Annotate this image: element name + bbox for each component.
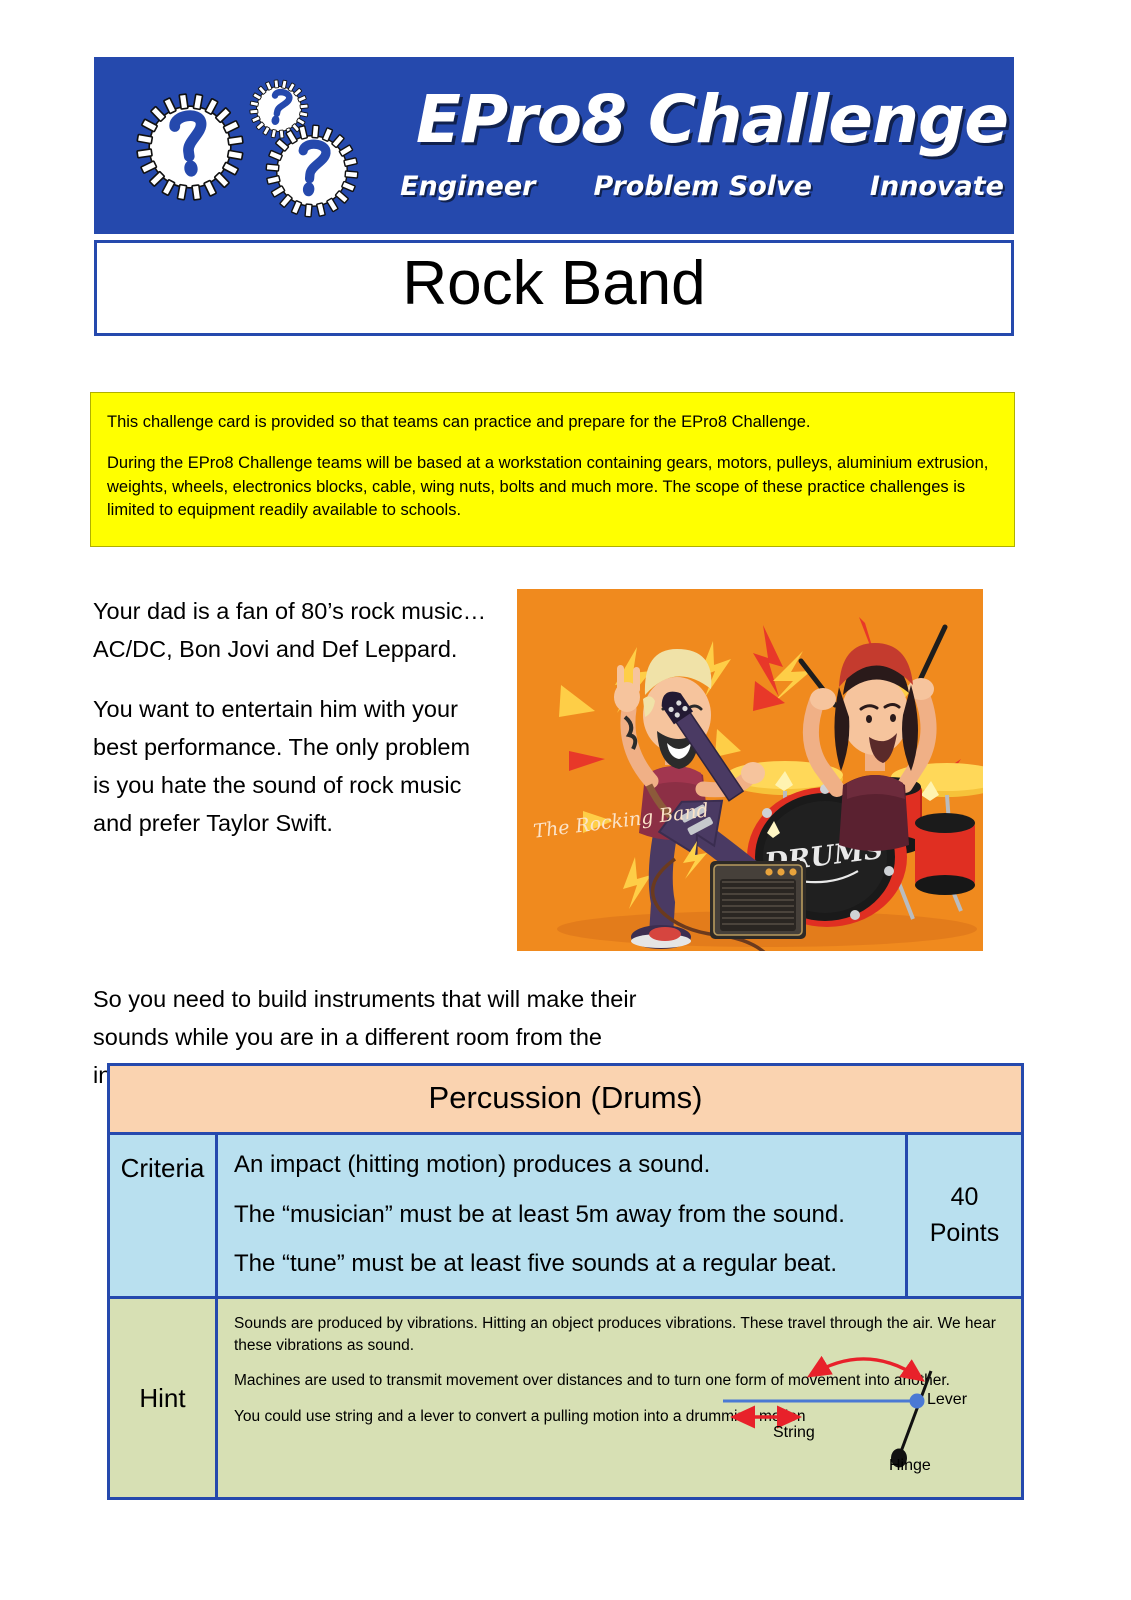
tagline-innovate: Innovate: [870, 171, 1004, 202]
challenge-table: Percussion (Drums) Criteria An impact (h…: [107, 1063, 1024, 1500]
challenge-title-box: Rock Band: [94, 240, 1014, 336]
pivot-point: [910, 1394, 925, 1409]
tagline-problem-solve: Problem Solve: [594, 171, 812, 202]
notice-paragraph-2: During the EPro8 Challenge teams will be…: [107, 452, 1000, 522]
brand-title: EPro8 Challenge: [384, 81, 1008, 158]
header-banner: EPro8 Challenge Engineer Problem Solve I…: [94, 57, 1014, 234]
hinge-label: Hinge: [889, 1457, 931, 1475]
criteria-list: An impact (hitting motion) produces a so…: [218, 1135, 908, 1296]
swing-arrow-icon: [811, 1359, 921, 1379]
gears-question-marks-icon: [116, 61, 376, 229]
brand-block: EPro8 Challenge Engineer Problem Solve I…: [384, 57, 1008, 234]
story-paragraph-1: Your dad is a fan of 80’s rock music… AC…: [93, 592, 493, 668]
points-unit: Points: [930, 1216, 999, 1252]
practice-notice-box: This challenge card is provided so that …: [90, 392, 1015, 547]
lever-string-diagram: Lever String Hinge: [713, 1329, 1003, 1479]
rock-band-illustration: DRUMS: [517, 589, 983, 951]
criteria-item-1: An impact (hitting motion) produces a so…: [234, 1149, 891, 1181]
lever-rod: [899, 1371, 931, 1457]
story-text: Your dad is a fan of 80’s rock music… AC…: [93, 592, 493, 864]
story-paragraph-2: You want to entertain him with your best…: [93, 690, 493, 842]
brand-tagline: Engineer Problem Solve Innovate: [384, 171, 1008, 202]
criteria-item-3: The “tune” must be at least five sounds …: [234, 1248, 891, 1280]
table-header: Percussion (Drums): [110, 1066, 1021, 1135]
table-row-hint: Hint Sounds are produced by vibrations. …: [110, 1299, 1021, 1497]
criteria-item-2: The “musician” must be at least 5m away …: [234, 1199, 891, 1231]
string-label: String: [773, 1424, 815, 1442]
notice-paragraph-1: This challenge card is provided so that …: [107, 411, 1000, 434]
tagline-engineer: Engineer: [400, 171, 535, 202]
page-title: Rock Band: [402, 253, 705, 323]
hint-body: Sounds are produced by vibrations. Hitti…: [218, 1299, 1021, 1497]
table-row-criteria: Criteria An impact (hitting motion) prod…: [110, 1135, 1021, 1299]
lever-label: Lever: [927, 1391, 967, 1409]
points-value: 40: [951, 1180, 979, 1216]
hint-label: Hint: [110, 1299, 218, 1497]
criteria-label: Criteria: [110, 1135, 218, 1296]
points-cell: 40 Points: [908, 1135, 1021, 1296]
